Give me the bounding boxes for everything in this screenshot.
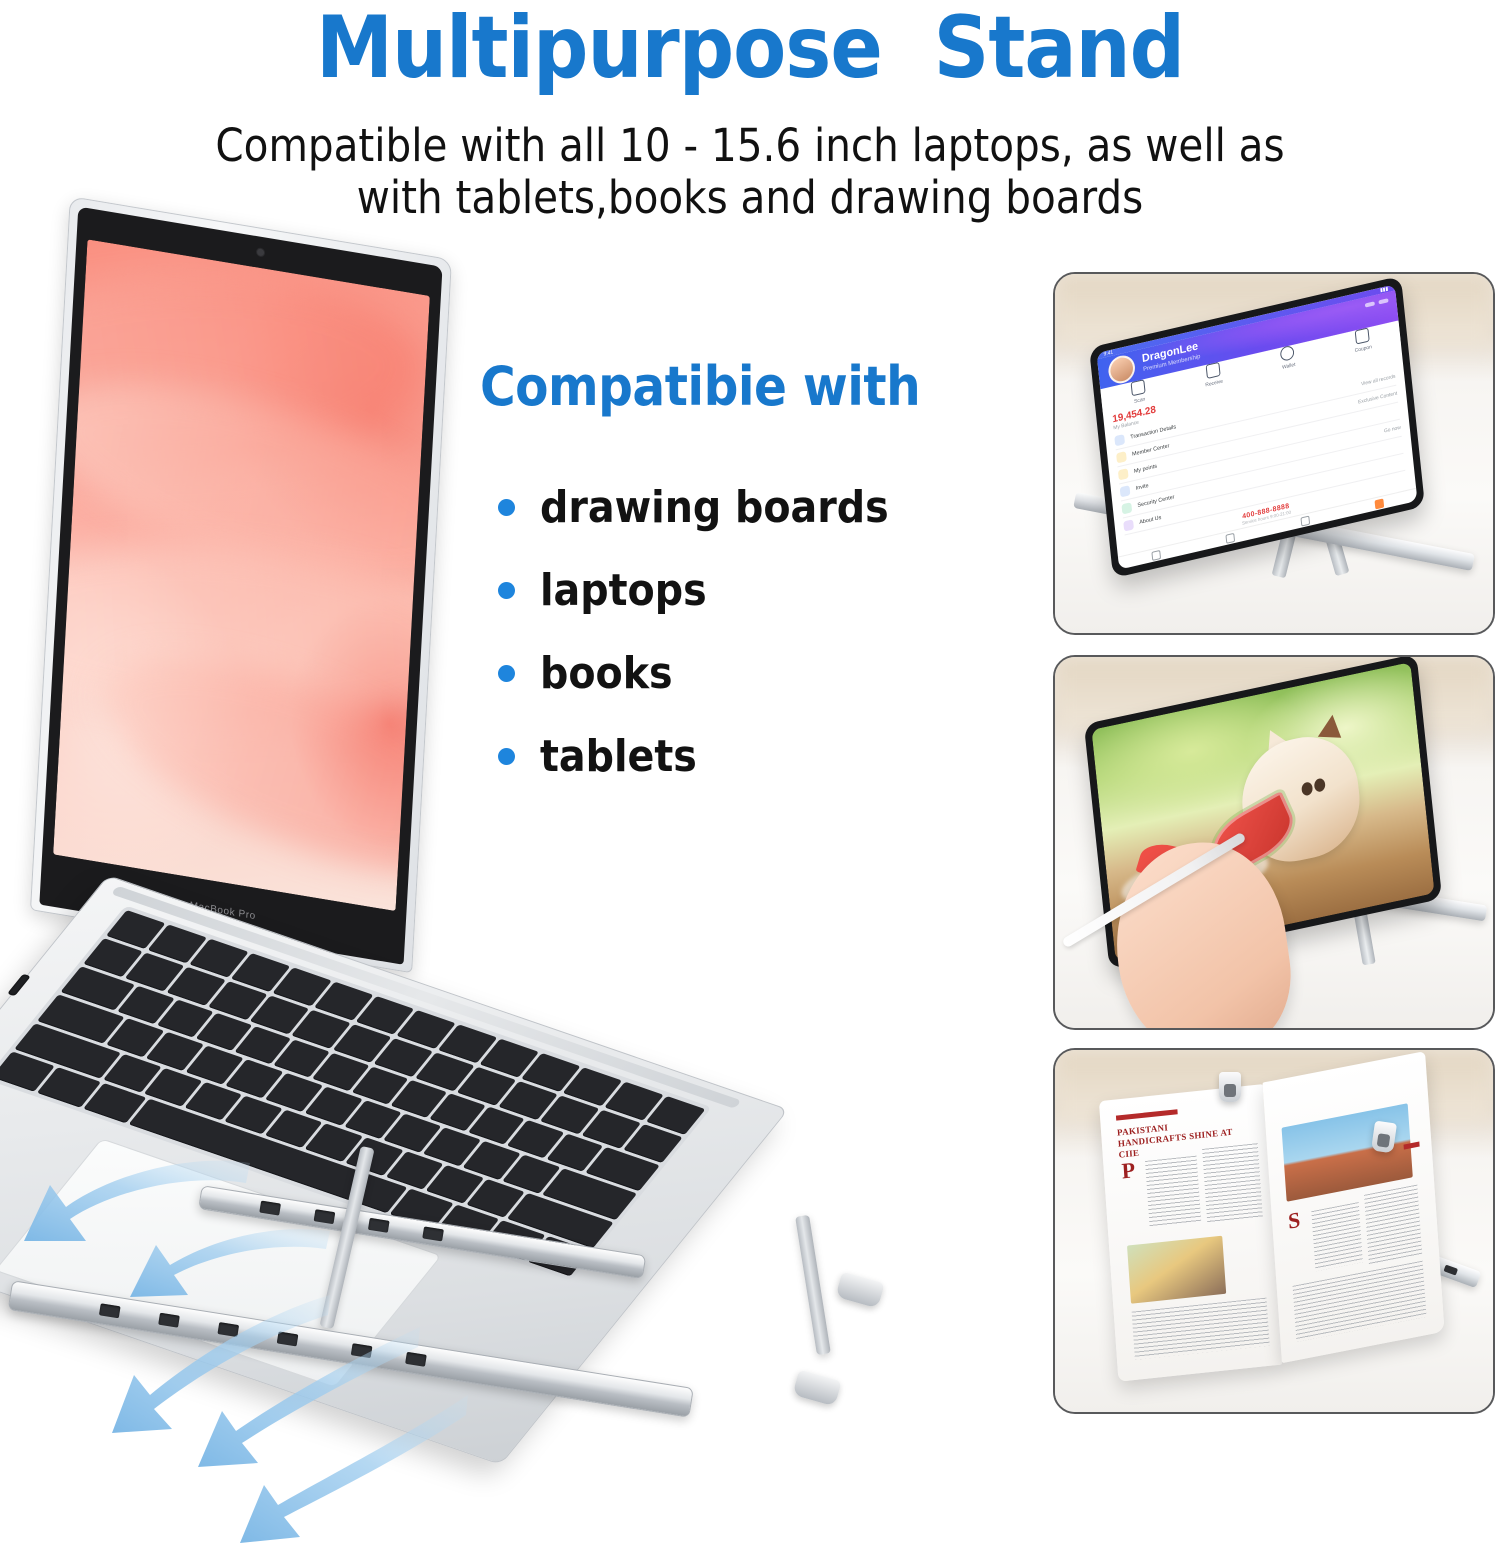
laptop-bezel: MacBook Pro bbox=[39, 207, 442, 965]
scene-book-on-stand: PAKISTANI HANDICRAFTS SHINE AT CIIE P S bbox=[1055, 1050, 1493, 1412]
page-title: Multipurpose Stand bbox=[0, 0, 1500, 98]
service-icon[interactable] bbox=[1300, 515, 1310, 526]
list-icon bbox=[1114, 434, 1125, 446]
magazine-photo bbox=[1282, 1103, 1413, 1202]
header-actions[interactable] bbox=[1365, 298, 1389, 307]
bell-icon[interactable] bbox=[1365, 301, 1375, 307]
magazine-photo bbox=[1127, 1236, 1226, 1304]
profile-icon[interactable] bbox=[1375, 498, 1385, 509]
magazine-right-page: S bbox=[1262, 1051, 1444, 1363]
stand-front-hook bbox=[835, 1271, 884, 1308]
scene-drawing-on-tablet bbox=[1055, 657, 1493, 1028]
panel-drawing bbox=[1053, 655, 1495, 1030]
drop-cap: S bbox=[1287, 1209, 1300, 1231]
list-item-value: View all records bbox=[1361, 374, 1396, 388]
gift-icon bbox=[1120, 485, 1131, 497]
cat-ear-icon bbox=[1318, 714, 1344, 737]
avatar bbox=[1107, 353, 1136, 386]
laptop-lid: MacBook Pro bbox=[30, 196, 452, 973]
airflow-arrows bbox=[0, 1145, 520, 1565]
coin-icon bbox=[1118, 468, 1129, 480]
webcam-icon bbox=[256, 248, 263, 256]
scene-tablet-on-stand: 9:41 ▮▮▮ DragonLee Premium Membership bbox=[1055, 274, 1493, 633]
panel-tablet-app: 9:41 ▮▮▮ DragonLee Premium Membership bbox=[1053, 272, 1495, 635]
open-magazine: PAKISTANI HANDICRAFTS SHINE AT CIIE P S bbox=[1099, 1054, 1445, 1386]
hero-product-photo: MacBook Pro bbox=[0, 185, 960, 1421]
shield-icon bbox=[1121, 503, 1132, 515]
drop-cap: P bbox=[1121, 1160, 1136, 1181]
activity-icon[interactable] bbox=[1226, 532, 1236, 543]
stand-leg bbox=[795, 1215, 831, 1355]
stand-front-hook bbox=[792, 1369, 841, 1406]
section-rule bbox=[1116, 1109, 1178, 1120]
cat-eye-icon bbox=[1314, 778, 1326, 793]
page-clip[interactable] bbox=[1219, 1072, 1241, 1102]
settings-icon[interactable] bbox=[1378, 298, 1388, 304]
info-icon bbox=[1123, 520, 1134, 532]
magazine-left-page: PAKISTANI HANDICRAFTS SHINE AT CIIE P bbox=[1099, 1084, 1282, 1382]
panel-book: PAKISTANI HANDICRAFTS SHINE AT CIIE P S bbox=[1053, 1048, 1495, 1414]
cat-eye-icon bbox=[1302, 782, 1314, 797]
home-icon[interactable] bbox=[1151, 550, 1161, 561]
list-item-value: Go now bbox=[1384, 425, 1401, 435]
laptop-screen-wallpaper bbox=[53, 239, 430, 911]
usb-c-port-icon bbox=[7, 974, 31, 996]
star-icon bbox=[1116, 451, 1127, 463]
